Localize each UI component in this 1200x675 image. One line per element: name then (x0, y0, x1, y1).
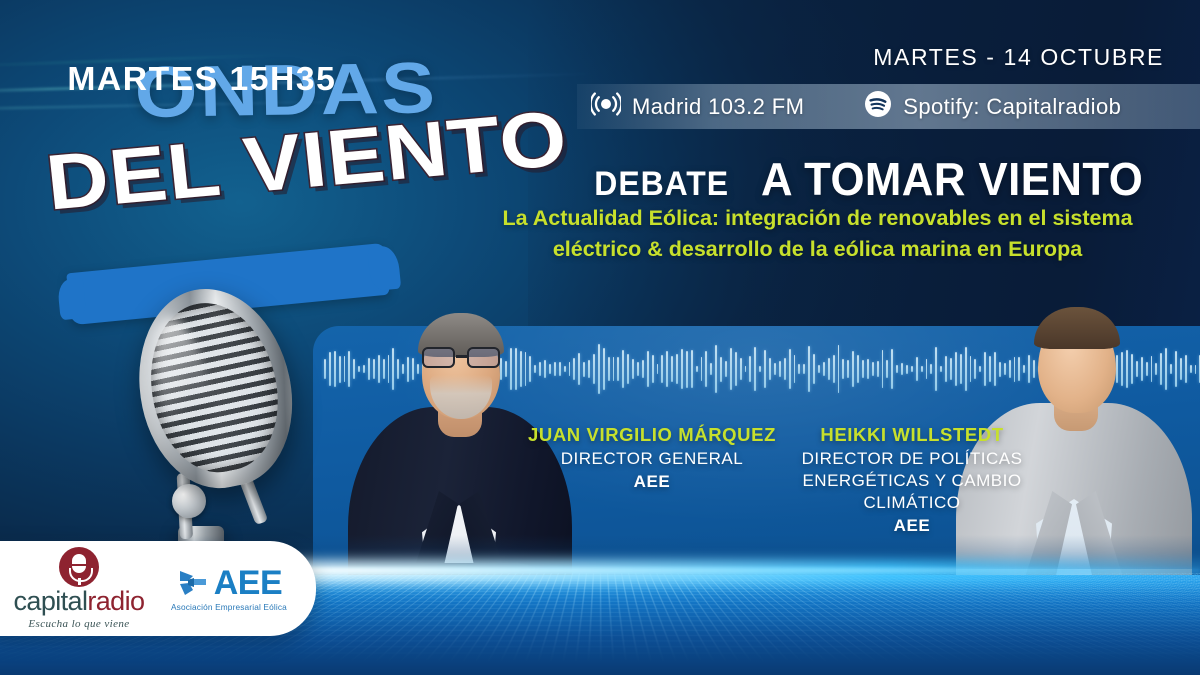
waveform-bar (896, 365, 898, 373)
hair (1034, 307, 1120, 349)
waveform-bar (789, 349, 791, 389)
waveform-bar (745, 366, 747, 372)
sponsor-logo-card: capitalradio Escucha lo que viene AEE As… (0, 541, 316, 636)
speaker-role: DIRECTOR GENERAL (512, 448, 792, 470)
waveform-bar (691, 350, 693, 388)
waveform-bar (803, 364, 805, 374)
spotify-icon[interactable] (864, 90, 892, 123)
waveform-bar (867, 359, 869, 379)
waveform-bar (872, 362, 874, 376)
speaker-label-1: JUAN VIRGILIO MÁRQUEZ DIRECTOR GENERAL A… (512, 423, 792, 494)
station-frequency: Madrid 103.2 FM (591, 91, 804, 122)
waveform-bar (749, 356, 751, 383)
waveform-bar (798, 364, 800, 374)
waveform-bar (833, 355, 835, 384)
aee-subtitle: Asociación Empresarial Eólica (171, 602, 287, 612)
lens-left (422, 347, 455, 368)
microphone-head (121, 275, 309, 502)
waveform-bar (921, 366, 923, 372)
aee-logo[interactable]: AEE Asociación Empresarial Eólica (164, 566, 294, 612)
capital-radio-tagline: Escucha lo que viene (28, 618, 129, 630)
schedule-banner-label: MARTES 15H35 (67, 60, 336, 98)
waveform-bar (794, 355, 796, 383)
capital-word: capital (14, 586, 88, 616)
waveform-bar (661, 355, 663, 383)
waveform-bar (759, 366, 761, 372)
broadcast-date: MARTES - 14 OCTUBRE (873, 44, 1164, 71)
waveform-bar (857, 355, 859, 382)
waveform-bar (666, 351, 668, 388)
lens-right (467, 347, 500, 368)
waveform-bar (916, 357, 918, 380)
waveform-bar (774, 363, 776, 375)
waveform-bar (647, 351, 649, 387)
spotify-handle[interactable]: Spotify: Capitalradiob (864, 90, 1121, 123)
waveform-bar (657, 364, 659, 373)
aee-logo-row: AEE (176, 566, 282, 600)
speaker-org: AEE (512, 470, 792, 494)
waveform-bar (842, 359, 844, 379)
waveform-bar (945, 356, 947, 381)
waveform-bar (813, 354, 815, 384)
waveform-bar (886, 360, 888, 377)
waveform-bar (676, 354, 678, 384)
waveform-bar (632, 359, 634, 379)
speaker-role: DIRECTOR DE POLÍTICAS (796, 448, 1028, 470)
debate-title-row: DEBATE A TOMAR VIENTO (590, 152, 1154, 206)
speaker-role: ENERGÉTICAS Y CAMBIO (796, 470, 1028, 492)
mic-crossbar (67, 564, 91, 566)
waveform-bar (720, 357, 722, 382)
subtitle-line-2: eléctrico & desarrollo de la eólica mari… (455, 234, 1180, 265)
speaker-label-2: HEIKKI WILLSTEDT DIRECTOR DE POLÍTICAS E… (796, 423, 1028, 538)
waveform-bar (652, 355, 654, 383)
waveform-bar (769, 358, 771, 380)
capital-radio-mic-icon (59, 547, 99, 587)
waveform-bar (598, 344, 600, 394)
waveform-bar (828, 358, 830, 379)
subtitle: La Actualidad Eólica: integración de ren… (455, 203, 1180, 265)
mic-stem (78, 578, 81, 585)
show-logo: ONDAS DEL VIENTO MARTES 15H35 (46, 52, 476, 292)
waveform-bar (935, 347, 937, 390)
wind-turbine-icon (176, 568, 210, 598)
poster-canvas: MARTES - 14 OCTUBRE Madrid 103.2 FM (0, 0, 1200, 675)
waveform-bar (740, 358, 742, 379)
waveform-bar (710, 363, 712, 376)
radio-word: radio (87, 586, 144, 616)
waveform-bar (705, 351, 707, 388)
eyeglasses-icon (420, 347, 502, 369)
waveform-bar (627, 354, 629, 383)
waveform-bar (882, 350, 884, 388)
waveform-bar (725, 361, 727, 378)
waveform-bar (930, 364, 932, 373)
waveform-bar (617, 357, 619, 381)
waveform-bar (608, 357, 610, 381)
waveform-bar (686, 351, 688, 388)
waveform-bar (642, 360, 644, 378)
capital-radio-wordmark: capitalradio (14, 588, 145, 615)
microphone-knob (172, 484, 206, 518)
spotify-label: Spotify: Capitalradiob (903, 94, 1121, 120)
waveform-bar (838, 345, 840, 393)
station-frequency-label: Madrid 103.2 FM (632, 94, 804, 120)
waveform-bar (696, 366, 698, 372)
waveform-bar (784, 358, 786, 380)
waveform-bar (764, 350, 766, 389)
waveform-bar (754, 347, 756, 391)
waveform-bar (701, 357, 703, 382)
waveform-bar (906, 365, 908, 374)
waveform-bar (891, 349, 893, 389)
capital-radio-logo[interactable]: capitalradio Escucha lo que viene (10, 547, 148, 630)
waveform-bar (681, 349, 683, 389)
page-title: A TOMAR VIENTO (761, 152, 1143, 206)
speaker-role: CLIMÁTICO (796, 492, 1028, 514)
speaker-name: HEIKKI WILLSTEDT (796, 423, 1028, 448)
broadcast-waves-icon (591, 91, 621, 122)
waveform-bar (911, 366, 913, 372)
bridge (456, 355, 467, 358)
waveform-bar (715, 345, 717, 393)
waveform-bar (877, 361, 879, 377)
aee-acronym: AEE (214, 566, 282, 600)
waveform-bar (637, 362, 639, 376)
waveform-bar (808, 346, 810, 391)
waveform-bar (735, 352, 737, 385)
waveform-bar (926, 359, 928, 379)
speaker-name: JUAN VIRGILIO MÁRQUEZ (512, 423, 792, 448)
waveform-bar (818, 365, 820, 373)
debate-kicker: DEBATE (594, 165, 729, 204)
waveform-bar (779, 361, 781, 377)
waveform-bar (622, 350, 624, 389)
waveform-bar (730, 348, 732, 390)
waveform-bar (940, 366, 942, 372)
waveform-bar (593, 354, 595, 385)
waveform-bar (671, 356, 673, 382)
waveform-bar (852, 351, 854, 387)
waveform-bar (823, 362, 825, 375)
waveform-bar (901, 363, 903, 376)
waveform-bar (603, 348, 605, 390)
frequency-bar: Madrid 103.2 FM Spotify: Capitalradiob (577, 84, 1200, 129)
waveform-bar (847, 360, 849, 378)
waveform-bar (862, 360, 864, 379)
subtitle-line-1: La Actualidad Eólica: integración de ren… (455, 203, 1180, 234)
waveform-bar (613, 357, 615, 382)
